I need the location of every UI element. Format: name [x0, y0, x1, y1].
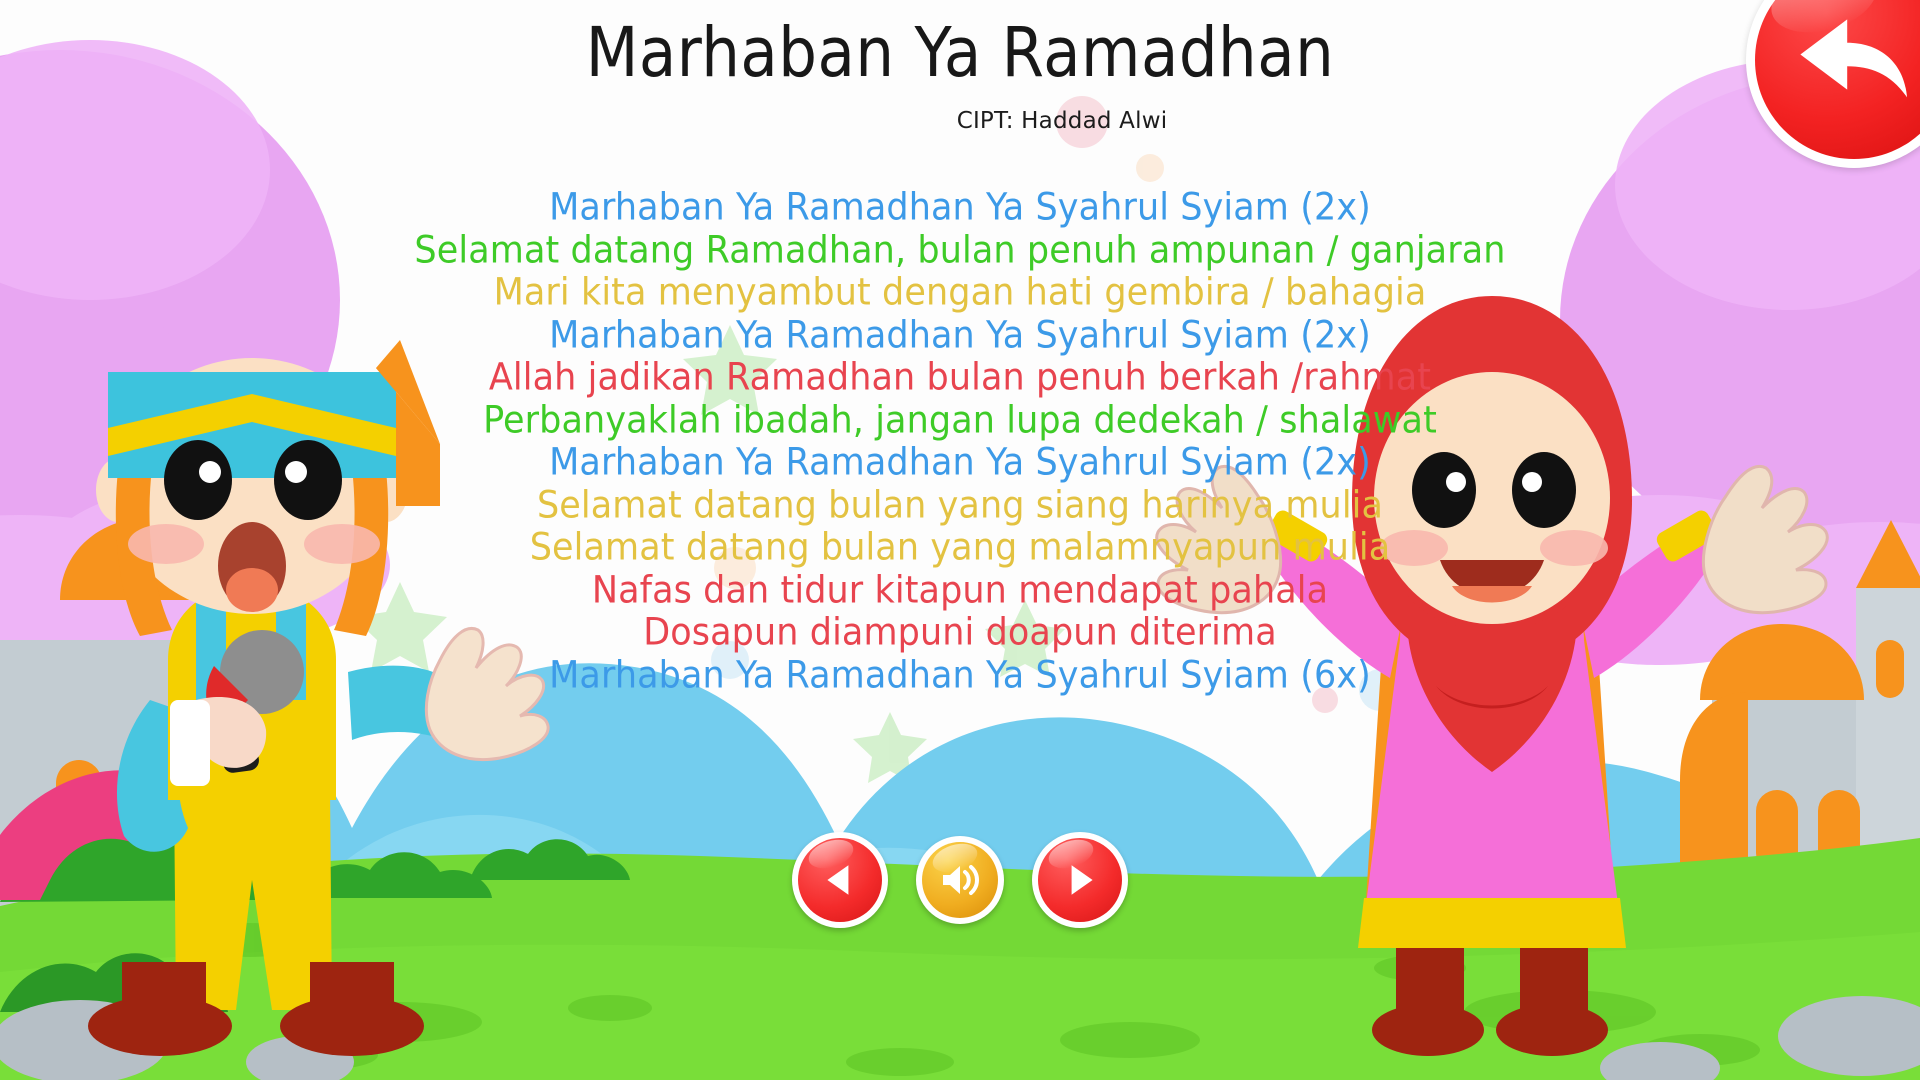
previous-triangle-icon [819, 859, 861, 901]
speaker-volume-icon [937, 859, 983, 901]
song-credit-text: CIPT: Haddad Alwi [957, 108, 1168, 134]
lyrics-screen: Marhaban Ya Ramadhan CIPT: Haddad Alwi M… [0, 0, 1920, 1080]
back-arrow-icon [1790, 0, 1920, 126]
next-triangle-icon [1059, 859, 1101, 901]
song-credit: CIPT: Haddad Alwi [0, 108, 1920, 134]
previous-button[interactable] [792, 832, 888, 928]
playback-controls [0, 832, 1920, 928]
sound-button[interactable] [916, 836, 1004, 924]
next-button[interactable] [1032, 832, 1128, 928]
